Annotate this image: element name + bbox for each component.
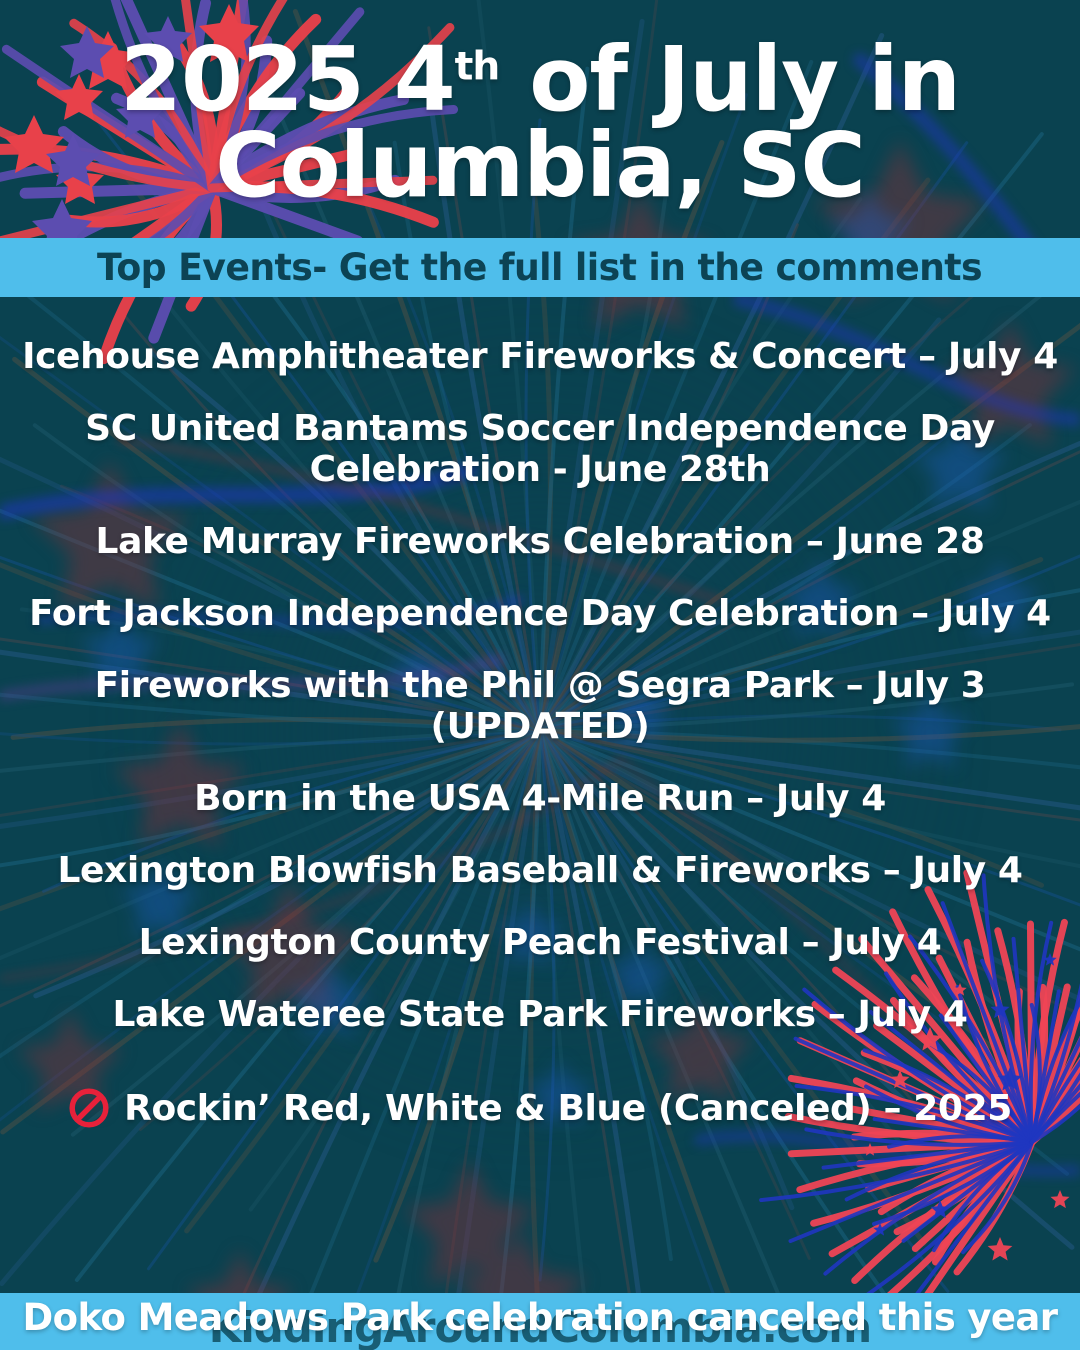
list-item: Fort Jackson Independence Day Celebratio… [18, 593, 1062, 634]
list-item: Lake Wateree State Park Fireworks – July… [18, 994, 1062, 1035]
event-list: Icehouse Amphitheater Fireworks & Concer… [0, 300, 1080, 1293]
subtitle-banner-text: Top Events- Get the full list in the com… [97, 246, 982, 289]
footer-note: Doko Meadows Park celebration canceled t… [0, 1288, 1080, 1346]
list-item: Lexington County Peach Festival – July 4 [18, 922, 1062, 963]
list-item: Icehouse Amphitheater Fireworks & Concer… [18, 336, 1062, 377]
poster-title-block: 2025 4th of July in Columbia, SC [0, 6, 1080, 238]
canceled-event-row: Rockin’ Red, White & Blue (Canceled) – 2… [68, 1087, 1012, 1129]
list-item: Born in the USA 4-Mile Run – July 4 [18, 778, 1062, 819]
list-item: Fireworks with the Phil @ Segra Park – J… [18, 665, 1062, 747]
subtitle-banner: Top Events- Get the full list in the com… [0, 238, 1080, 297]
title-superscript: th [455, 44, 500, 89]
page-title: 2025 4th of July in Columbia, SC [120, 36, 960, 209]
list-item: Lexington Blowfish Baseball & Fireworks … [18, 850, 1062, 891]
canceled-event-label: Rockin’ Red, White & Blue (Canceled) – 2… [124, 1088, 1012, 1129]
title-line-2: Columbia, SC [215, 113, 865, 217]
prohibition-icon [68, 1087, 110, 1129]
list-item: Lake Murray Fireworks Celebration – June… [18, 521, 1062, 562]
poster-canvas: 2025 4th of July in Columbia, SC Top Eve… [0, 0, 1080, 1350]
list-item: SC United Bantams Soccer Independence Da… [18, 408, 1062, 490]
